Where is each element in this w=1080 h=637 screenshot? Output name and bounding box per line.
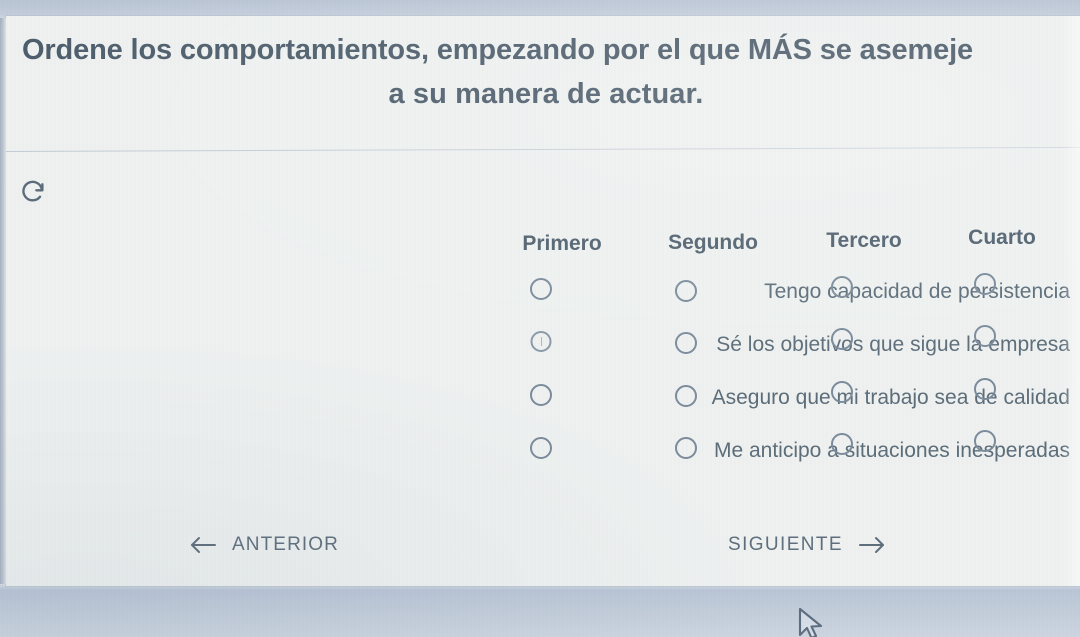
matrix-body: Tengo capacidad de persistenciaSé los ob… [0,274,1080,486]
radio-option[interactable] [530,278,552,300]
radio-button[interactable] [831,276,853,298]
refresh-icon[interactable] [18,176,48,206]
radio-option[interactable] [831,276,853,298]
form-navigation: ANTERIOR SIGUIENTE [0,528,1080,576]
question-title-line-1: Ordene los comportamientos, empezando po… [8,28,1080,72]
next-button-label: SIGUIENTE [728,534,843,556]
matrix-row: Sé los objetivos que sigue la empresa [0,327,1080,380]
matrix-row: Aseguro que mi trabajo sea de calidad [0,380,1080,433]
radio-option[interactable] [831,433,853,455]
radio-option[interactable] [531,331,552,352]
radio-option[interactable] [675,332,697,354]
radio-option[interactable] [831,381,853,403]
arrow-left-icon [188,534,218,556]
matrix-column-header: Tercero [826,229,901,253]
radio-button[interactable] [974,378,996,400]
matrix-row: Tengo capacidad de persistencia [0,274,1080,327]
radio-button[interactable] [974,325,996,347]
radio-option[interactable] [675,280,697,302]
previous-button-label: ANTERIOR [232,534,339,556]
radio-button[interactable] [531,331,552,352]
radio-button[interactable] [831,328,853,350]
radio-button[interactable] [675,437,697,459]
radio-option[interactable] [974,273,996,295]
radio-option[interactable] [675,437,697,459]
radio-option[interactable] [831,328,853,350]
radio-button[interactable] [530,384,552,406]
radio-button[interactable] [675,385,697,407]
radio-button[interactable] [974,273,996,295]
radio-button[interactable] [530,437,552,459]
next-button[interactable]: SIGUIENTE [720,528,895,562]
matrix-row: Me anticipo a situaciones inesperadas [0,433,1080,486]
radio-option[interactable] [974,430,996,452]
ranking-matrix: PrimeroSegundoTerceroCuarto Tengo capaci… [0,232,1080,486]
matrix-column-header: Primero [522,232,601,256]
radio-option[interactable] [974,325,996,347]
radio-button[interactable] [831,433,853,455]
radio-button[interactable] [831,381,853,403]
question-title: Ordene los comportamientos, empezando po… [8,28,1080,116]
previous-button[interactable]: ANTERIOR [180,528,347,562]
matrix-column-header: Cuarto [968,226,1036,250]
matrix-column-headers: PrimeroSegundoTerceroCuarto [0,232,1080,274]
screen-photo: Ordene los comportamientos, empezando po… [0,0,1080,637]
radio-button[interactable] [675,332,697,354]
arrow-right-icon [857,534,887,556]
radio-button[interactable] [974,430,996,452]
matrix-column-header: Segundo [668,231,758,255]
radio-option[interactable] [675,385,697,407]
radio-option[interactable] [530,384,552,406]
radio-button[interactable] [530,278,552,300]
question-title-line-2: a su manera de actuar. [8,72,1080,116]
radio-option[interactable] [530,437,552,459]
radio-option[interactable] [974,378,996,400]
radio-button[interactable] [675,280,697,302]
